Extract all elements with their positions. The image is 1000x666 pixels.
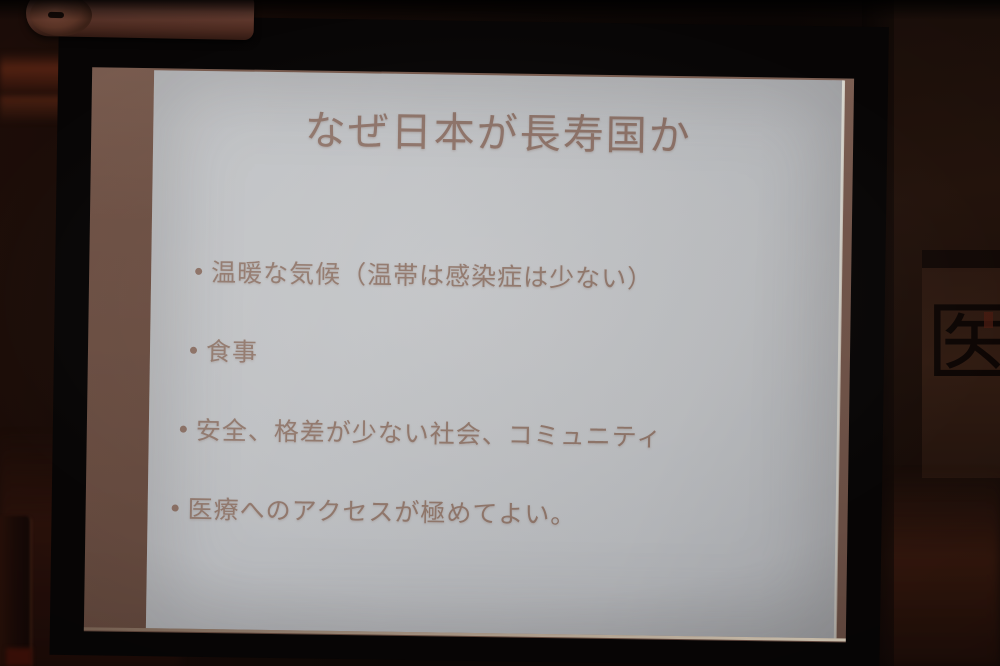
left-foreground-object-accent — [6, 648, 32, 666]
photograph: 医 なぜ日本が長寿国か 温暖な気候（温帯は感染症は少ない） 食事 — [0, 0, 1000, 666]
left-foreground-object — [0, 516, 32, 666]
bullet-item: 医療へのアクセスが極めてよい。 — [171, 490, 825, 536]
bullet-item: 安全、格差が少ない社会、コミュニティ — [180, 411, 827, 457]
projected-slide: なぜ日本が長寿国か 温暖な気候（温帯は感染症は少ない） 食事 安全、格差が少ない… — [146, 70, 844, 638]
bullet-text: 温暖な気候（温帯は感染症は少ない） — [211, 253, 654, 296]
scroll-seal-stamp — [984, 312, 993, 328]
bullet-text: 食事 — [206, 332, 259, 369]
ceiling-shadow — [0, 0, 1000, 20]
bullet-dot-icon — [190, 347, 197, 354]
bullet-item: 食事 — [190, 332, 828, 377]
slide-bullet-list: 温暖な気候（温帯は感染症は少ない） 食事 安全、格差が少ない社会、コミュニティ … — [165, 252, 829, 535]
bullet-dot-icon — [172, 505, 179, 512]
bullet-text: 医療へのアクセスが極めてよい。 — [187, 490, 576, 532]
scroll-character: 医 — [926, 290, 992, 398]
bullet-item: 温暖な気候（温帯は感染症は少ない） — [195, 253, 829, 298]
slide-content: なぜ日本が長寿国か 温暖な気候（温帯は感染症は少ない） 食事 安全、格差が少ない… — [146, 70, 844, 638]
projector-screen: なぜ日本が長寿国か 温暖な気候（温帯は感染症は少ない） 食事 安全、格差が少ない… — [49, 15, 889, 666]
slide-title: なぜ日本が長寿国か — [153, 94, 844, 164]
bullet-dot-icon — [180, 426, 187, 433]
bullet-text: 安全、格差が少ない社会、コミュニティ — [196, 411, 663, 454]
bullet-dot-icon — [195, 268, 202, 275]
